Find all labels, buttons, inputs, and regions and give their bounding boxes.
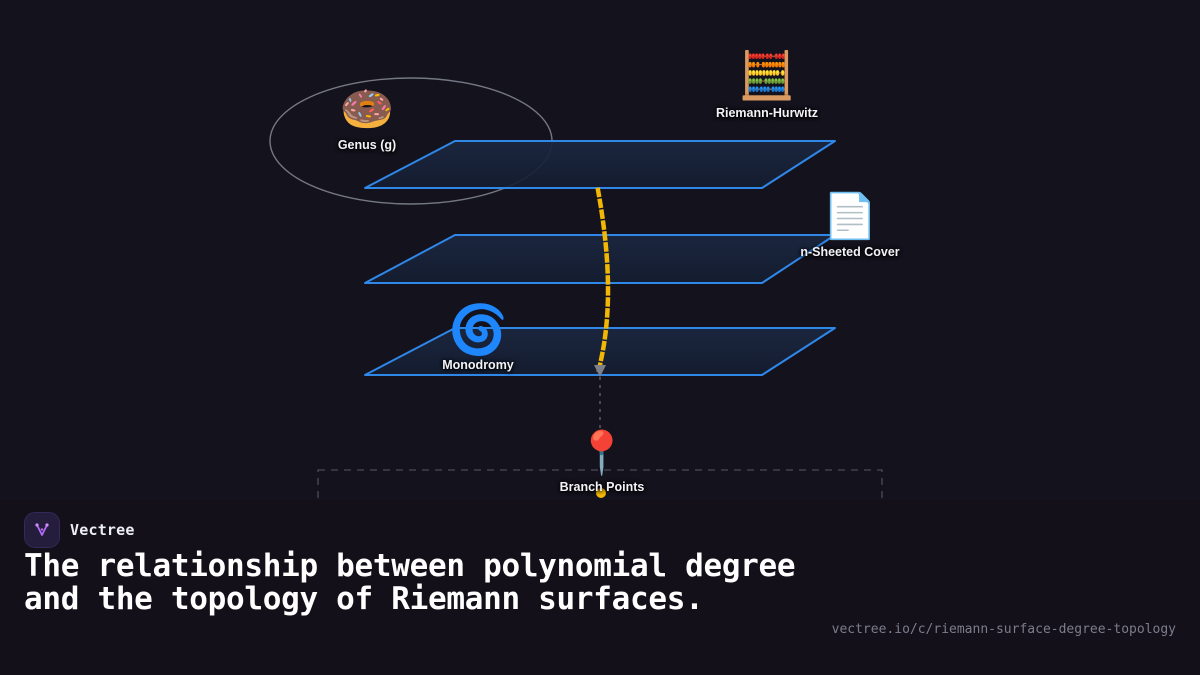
node-genus-label: Genus (g): [312, 138, 422, 152]
cyclone-icon: 🌀: [423, 306, 533, 354]
vectree-logo-icon: [24, 512, 60, 548]
node-monodromy[interactable]: 🌀 Monodromy: [423, 306, 533, 372]
page-title: The relationship between polynomial degr…: [24, 550, 824, 617]
node-genus[interactable]: 🍩 Genus (g): [312, 88, 422, 152]
node-monodromy-label: Monodromy: [423, 358, 533, 372]
sheet-1: [365, 141, 835, 188]
screenshot-root: 🍩 Genus (g) 🧮 Riemann-Hurwitz 📄 n-Sheete…: [0, 0, 1200, 675]
node-n-sheeted-cover[interactable]: 📄 n-Sheeted Cover: [795, 195, 905, 259]
riemann-surface-diagram: 🍩 Genus (g) 🧮 Riemann-Hurwitz 📄 n-Sheete…: [0, 0, 1200, 560]
doughnut-icon: 🍩: [312, 88, 422, 132]
node-n-sheeted-cover-label: n-Sheeted Cover: [795, 245, 905, 259]
pushpin-icon: 📍: [547, 432, 657, 474]
footer-bar: Vectree The relationship between polynom…: [0, 500, 1200, 675]
node-branch-points-label: Branch Points: [547, 480, 657, 494]
sheet-2: [365, 235, 835, 283]
abacus-icon: 🧮: [712, 52, 822, 98]
node-riemann-hurwitz[interactable]: 🧮 Riemann-Hurwitz: [712, 52, 822, 120]
brand: Vectree: [24, 512, 135, 548]
node-riemann-hurwitz-label: Riemann-Hurwitz: [712, 106, 822, 120]
page-icon: 📄: [795, 195, 905, 239]
node-branch-points[interactable]: 📍 Branch Points: [547, 432, 657, 494]
brand-name: Vectree: [70, 521, 135, 539]
page-url: vectree.io/c/riemann-surface-degree-topo…: [832, 622, 1176, 637]
